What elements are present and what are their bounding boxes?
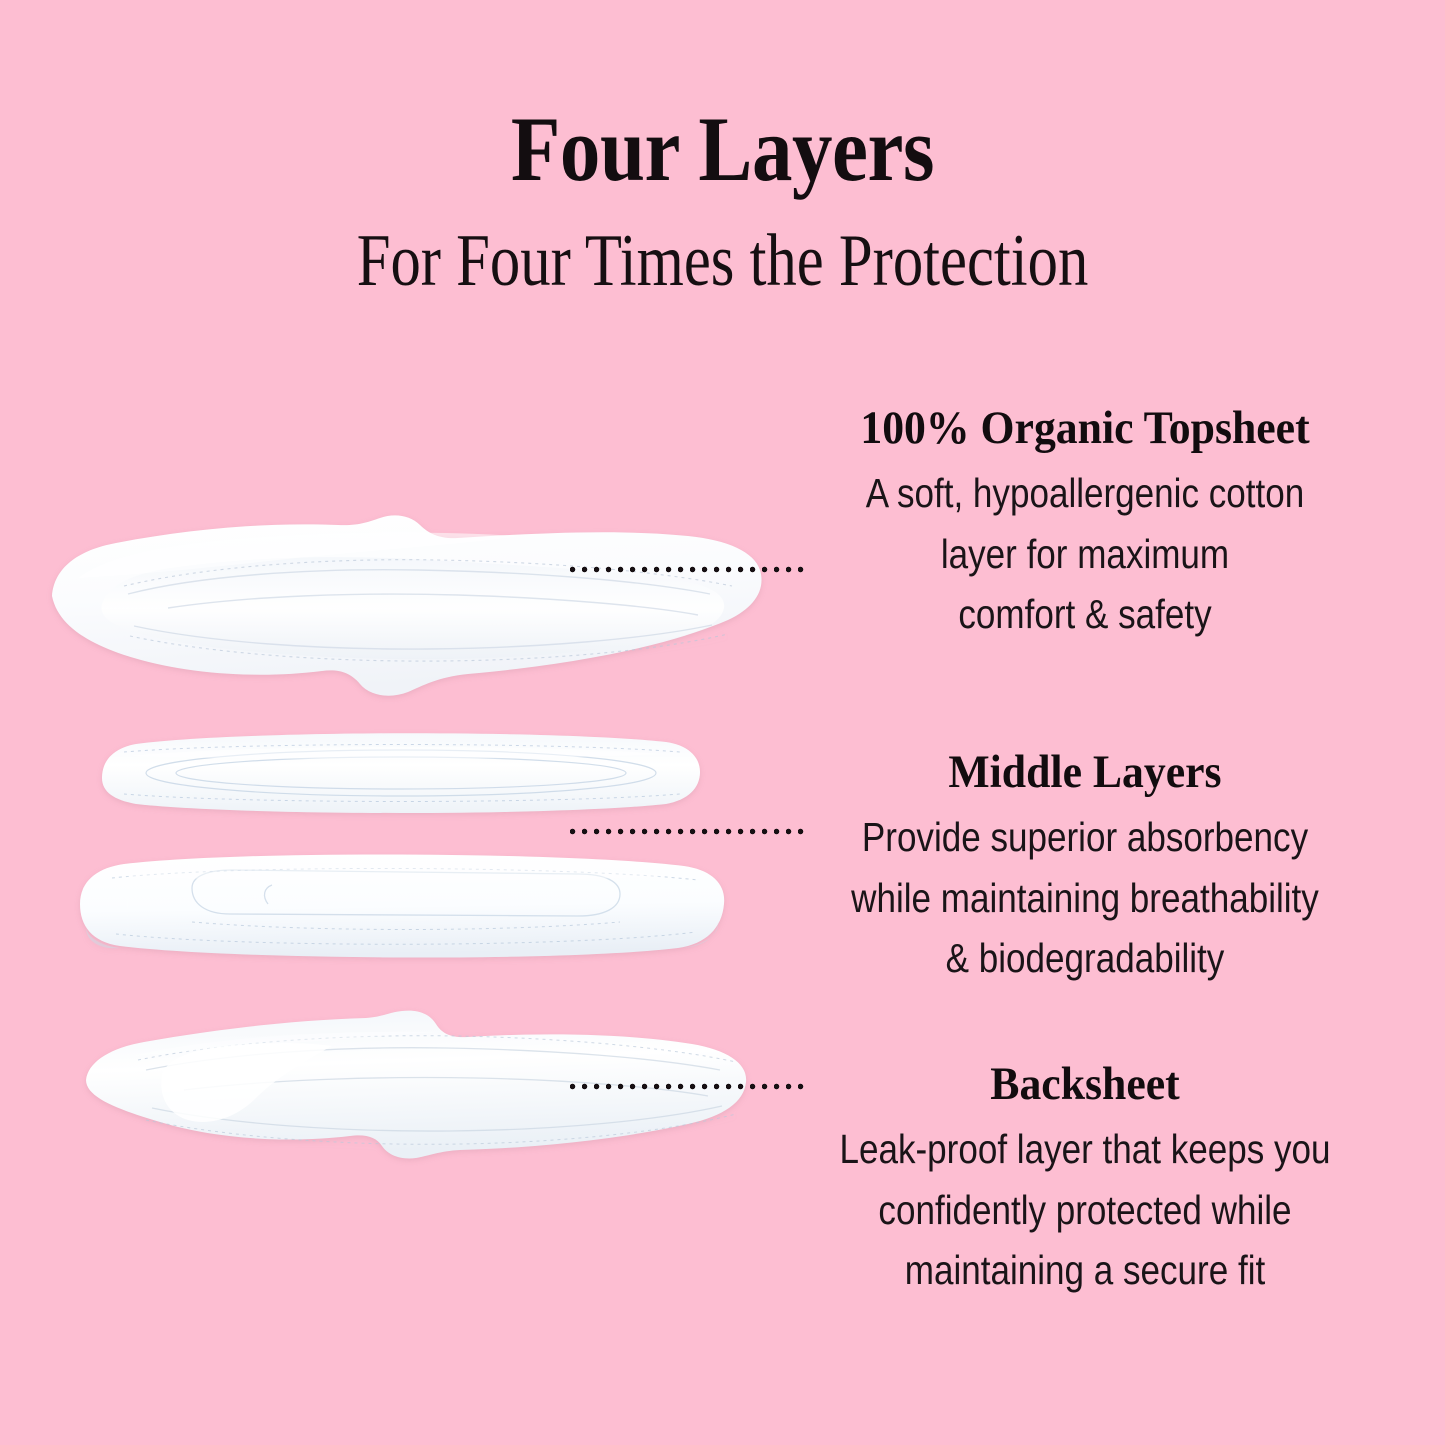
page-subtitle: For Four Times the Protection: [130, 224, 1315, 298]
infographic-poster: Four Layers For Four Times the Protectio…: [0, 0, 1445, 1445]
pad-image-topsheet: [38, 498, 778, 703]
layer-body-line: comfort & safety: [794, 584, 1375, 644]
layer-body-line: Provide superior absorbency: [794, 807, 1375, 867]
layer-body-line: Leak-proof layer that keeps you: [794, 1119, 1375, 1179]
layer-body-line: confidently protected while: [794, 1180, 1375, 1240]
layer-heading-backsheet: Backsheet: [769, 1060, 1401, 1109]
layer-heading-topsheet: 100% Organic Topsheet: [769, 404, 1401, 453]
layer-block-backsheet: Backsheet Leak-proof layer that keeps yo…: [745, 1060, 1425, 1300]
page-title: Four Layers: [87, 103, 1359, 195]
layer-block-topsheet: 100% Organic Topsheet A soft, hypoallerg…: [745, 404, 1425, 644]
pad-image-middle-layer-1: [96, 726, 706, 818]
layer-body-line: A soft, hypoallergenic cotton: [794, 463, 1375, 523]
layer-body-middle: Provide superior absorbency while mainta…: [794, 807, 1375, 988]
layer-body-line: layer for maximum: [794, 524, 1375, 584]
pad-image-middle-layer-2: [72, 852, 732, 962]
layer-body-backsheet: Leak-proof layer that keeps you confiden…: [794, 1119, 1375, 1300]
layer-block-middle: Middle Layers Provide superior absorbenc…: [745, 748, 1425, 988]
layer-body-line: maintaining a secure fit: [794, 1240, 1375, 1300]
layer-body-line: & biodegradability: [794, 928, 1375, 988]
layer-heading-middle: Middle Layers: [769, 748, 1401, 797]
layer-body-line: while maintaining breathability: [794, 868, 1375, 928]
layer-body-topsheet: A soft, hypoallergenic cotton layer for …: [794, 463, 1375, 644]
